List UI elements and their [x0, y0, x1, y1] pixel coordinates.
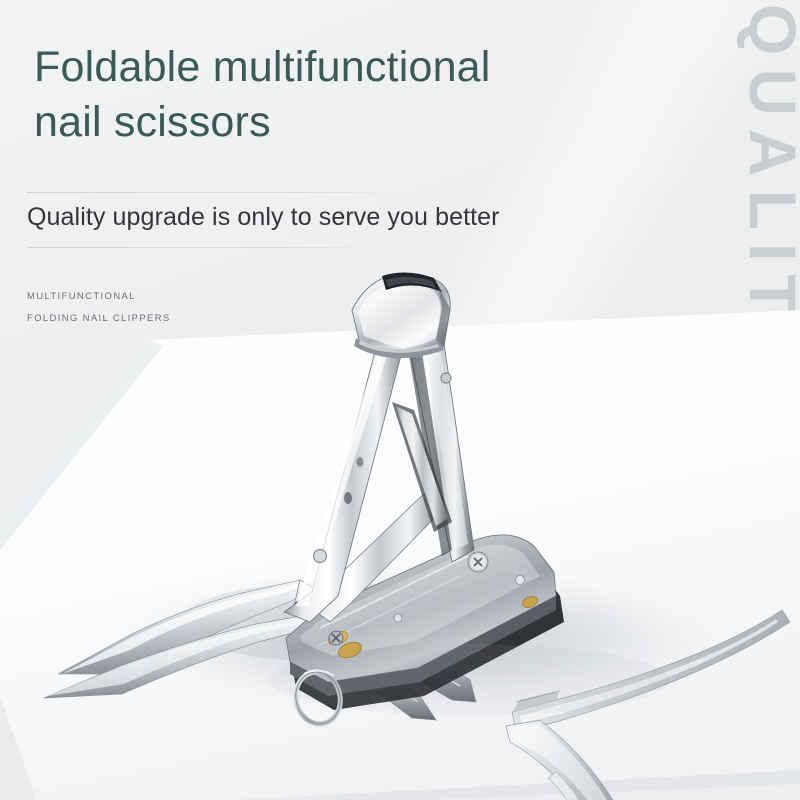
clipper-head: [352, 272, 450, 358]
subtitle: Quality upgrade is only to serve you bet…: [27, 203, 500, 232]
headline-line-1: Foldable multifunctional: [34, 40, 694, 95]
page-title: Foldable multifunctional nail scissors: [34, 40, 694, 150]
product-image: [0, 250, 800, 800]
pivot-screw: [468, 552, 488, 572]
paper-surface: [0, 310, 800, 800]
divider-bottom: [27, 247, 379, 248]
advertisement-banner: QUALITY Foldable multifunctional nail sc…: [0, 0, 800, 800]
headline-line-2: nail scissors: [34, 95, 694, 150]
divider-top: [26, 192, 401, 193]
